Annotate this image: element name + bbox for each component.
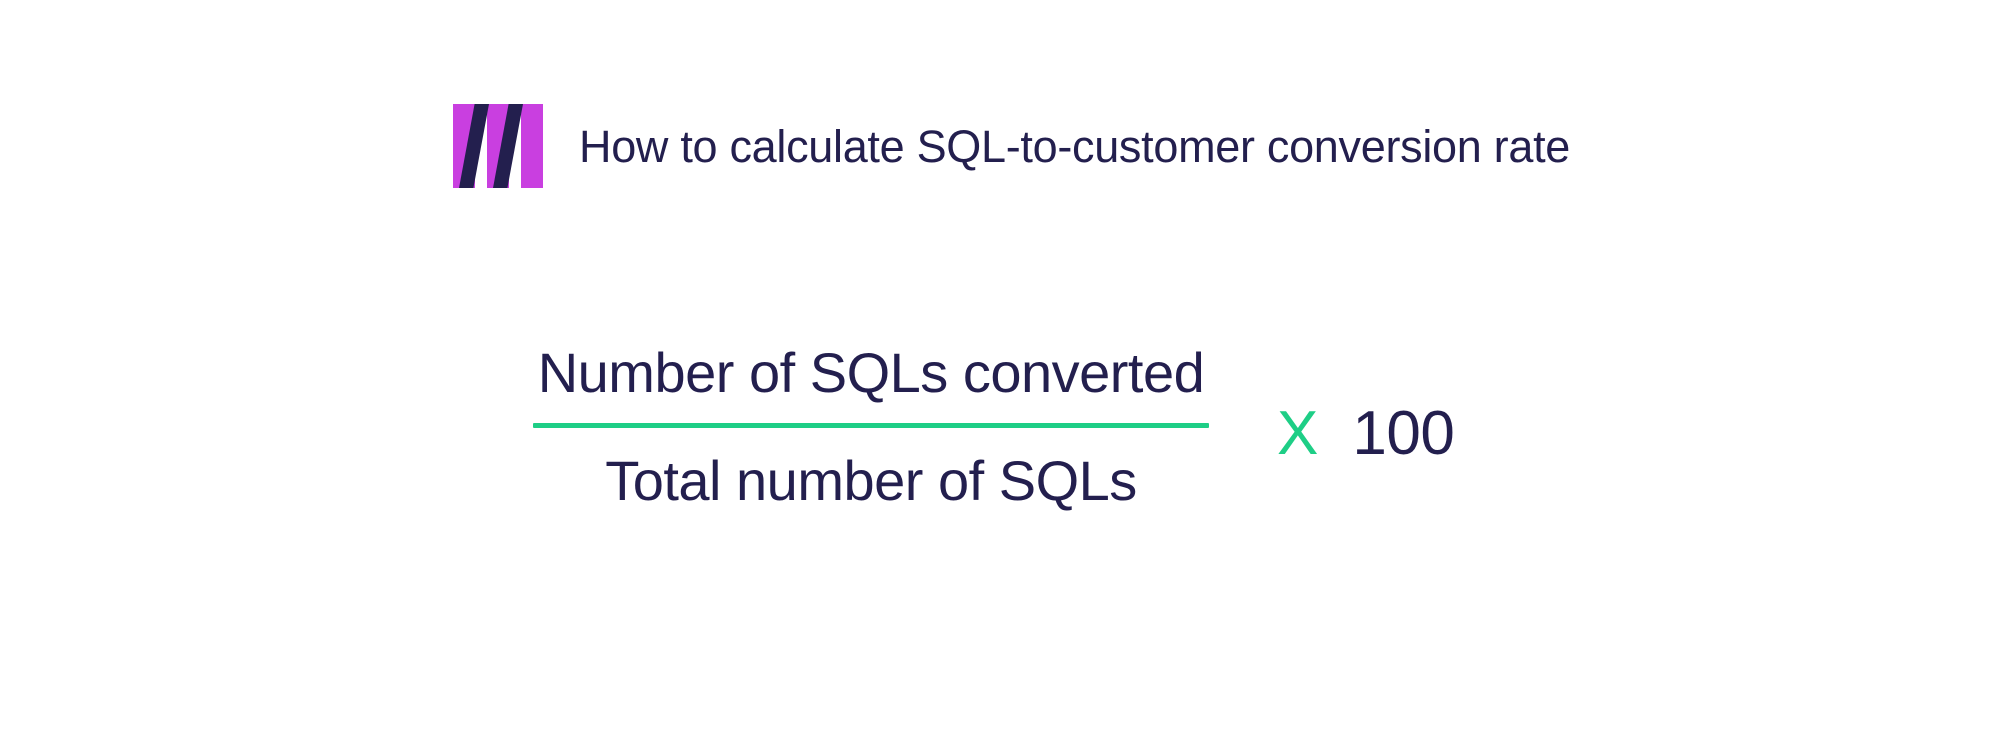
fraction-numerator: Number of SQLs converted — [538, 345, 1205, 423]
formula-block: Number of SQLs converted Total number of… — [533, 345, 1454, 509]
multiplier-value: 100 — [1352, 403, 1454, 465]
header: How to calculate SQL-to-customer convers… — [453, 104, 1570, 188]
logo-bar-3 — [521, 104, 543, 188]
metadata-w-logo-icon — [453, 104, 543, 188]
multiplier-group: X 100 — [1277, 403, 1454, 465]
multiply-icon: X — [1277, 403, 1318, 465]
fraction-denominator: Total number of SQLs — [605, 428, 1137, 509]
fraction: Number of SQLs converted Total number of… — [533, 345, 1209, 509]
page-title: How to calculate SQL-to-customer convers… — [579, 124, 1570, 169]
